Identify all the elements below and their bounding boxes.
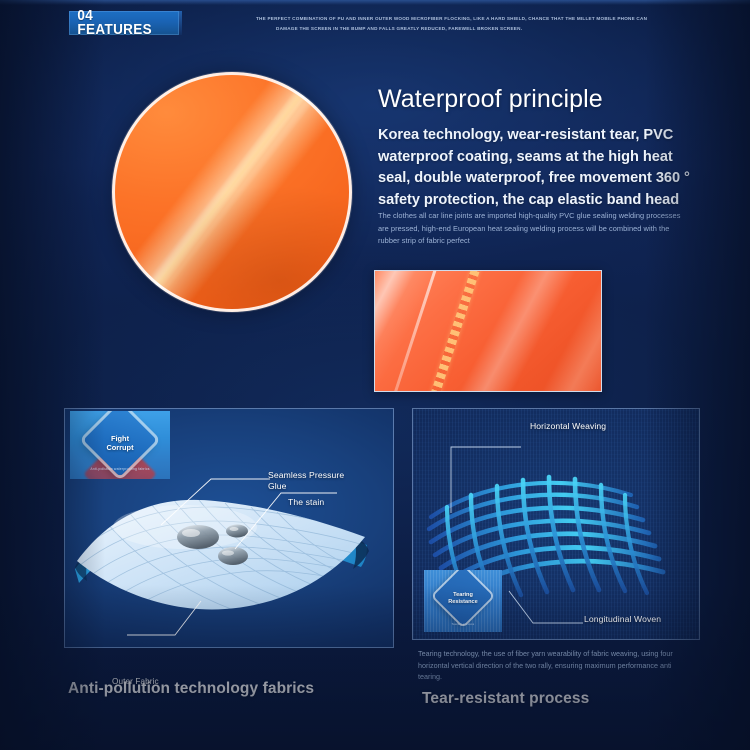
hero-note-text: The clothes all car line joints are impo…	[378, 210, 690, 248]
caption-anti-pollution: Anti-pollution technology fabrics	[68, 680, 314, 698]
tear-badge-title-line1: Tearing	[453, 592, 473, 598]
header-description-line2: DAMAGE THE SCREEN IN THE BUMP AND FALLS …	[256, 24, 676, 34]
badge-subtitle: Anti-pollution waterproofing fabrics	[70, 467, 170, 471]
seam-closeup-photo	[374, 270, 602, 392]
seam-photo-gloss-3	[374, 270, 602, 392]
label-longitudinal-woven: Longitudinal Woven	[584, 614, 661, 625]
hero-text-block: Waterproof principle Korea technology, w…	[378, 84, 708, 211]
water-droplet-large	[177, 525, 219, 549]
header: 04 FEATURES THE PERFECT COMBINATION OF P…	[0, 6, 750, 54]
swatch-shading	[115, 75, 349, 309]
water-droplet-medium	[218, 547, 248, 565]
tear-resistant-note: Tearing technology, the use of fiber yar…	[418, 648, 688, 683]
tear-badge-title: Tearing Resistance	[424, 592, 502, 606]
section-badge-tail	[179, 11, 182, 35]
caption-tear-resistant: Tear-resistant process	[422, 690, 589, 708]
label-seamless-pressure-glue: Seamless Pressure Glue	[268, 470, 344, 492]
header-description: THE PERFECT COMBINATION OF PU AND INNER …	[256, 14, 676, 34]
section-badge: 04 FEATURES	[69, 11, 179, 35]
section-badge-label: 04 FEATURES	[69, 9, 171, 38]
label-the-stain: The stain	[288, 497, 324, 508]
water-droplet-small	[226, 525, 248, 538]
fabric-circle-swatch-image	[112, 72, 352, 312]
hero-body-text: Korea technology, wear-resistant tear, P…	[378, 125, 708, 211]
tear-badge-title-line2: Resistance	[448, 599, 478, 605]
badge-title-line2: Corrupt	[106, 443, 133, 452]
hero-title: Waterproof principle	[378, 84, 708, 114]
badge-title-line1: Fight	[111, 434, 129, 443]
tear-badge-subtitle: Tearing process	[424, 622, 502, 626]
infographic-page: 04 FEATURES THE PERFECT COMBINATION OF P…	[0, 0, 750, 750]
badge-title: Fight Corrupt	[70, 434, 170, 452]
header-description-line1: THE PERFECT COMBINATION OF PU AND INNER …	[256, 14, 676, 24]
fight-corrupt-badge: Fight Corrupt Anti-pollution waterproofi…	[70, 411, 170, 479]
label-horizontal-weaving: Horizontal Weaving	[530, 421, 606, 432]
tearing-resistance-badge: Tearing Resistance Tearing process	[424, 570, 502, 632]
